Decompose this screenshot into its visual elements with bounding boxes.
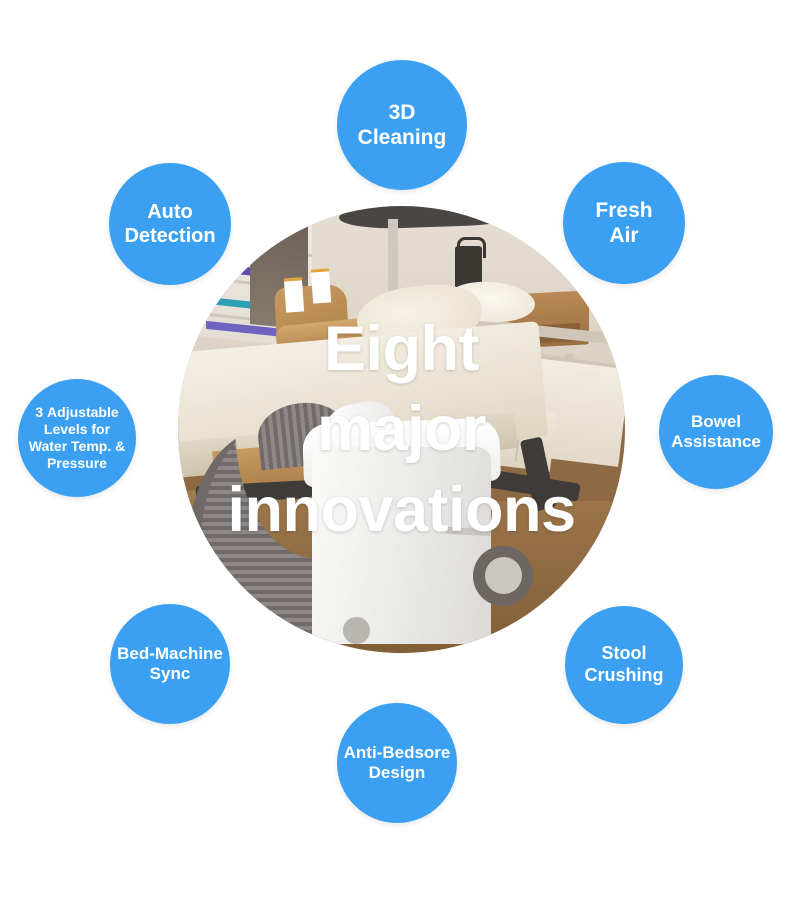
feature-bubble-label: FreshAir [589, 198, 658, 248]
scene-machine-body [312, 447, 491, 644]
feature-bubble-label: BowelAssistance [665, 412, 767, 453]
feature-bubble-auto-detection[interactable]: AutoDetection [109, 163, 231, 285]
feature-bubble-stool-crushing[interactable]: StoolCrushing [565, 606, 683, 724]
feature-bubble-fresh-air[interactable]: FreshAir [563, 162, 685, 284]
center-photo [178, 206, 625, 653]
feature-bubble-water-levels[interactable]: 3 AdjustableLevels forWater Temp. &Press… [18, 379, 136, 497]
feature-bubble-label: StoolCrushing [579, 643, 670, 686]
infographic-canvas: Eight major innovations 3DCleaningAutoDe… [0, 0, 790, 903]
scene-lift-pole [388, 219, 398, 291]
feature-bubble-label: 3DCleaning [352, 100, 453, 150]
feature-bubble-bed-machine-sync[interactable]: Bed-MachineSync [110, 604, 230, 724]
scene-machine-hubcap [485, 557, 522, 594]
feature-bubble-anti-bedsore[interactable]: Anti-BedsoreDesign [337, 703, 457, 823]
feature-bubble-3d-cleaning[interactable]: 3DCleaning [337, 60, 467, 190]
feature-bubble-label: Bed-MachineSync [111, 644, 229, 685]
scene-label-card-1 [284, 277, 304, 312]
feature-bubble-label: 3 AdjustableLevels forWater Temp. &Press… [23, 404, 131, 471]
feature-bubble-label: Anti-BedsoreDesign [338, 743, 457, 784]
feature-bubble-bowel-assistance[interactable]: BowelAssistance [659, 375, 773, 489]
photo-scene [178, 206, 625, 653]
feature-bubble-label: AutoDetection [118, 200, 221, 248]
scene-label-card-2 [311, 268, 331, 303]
